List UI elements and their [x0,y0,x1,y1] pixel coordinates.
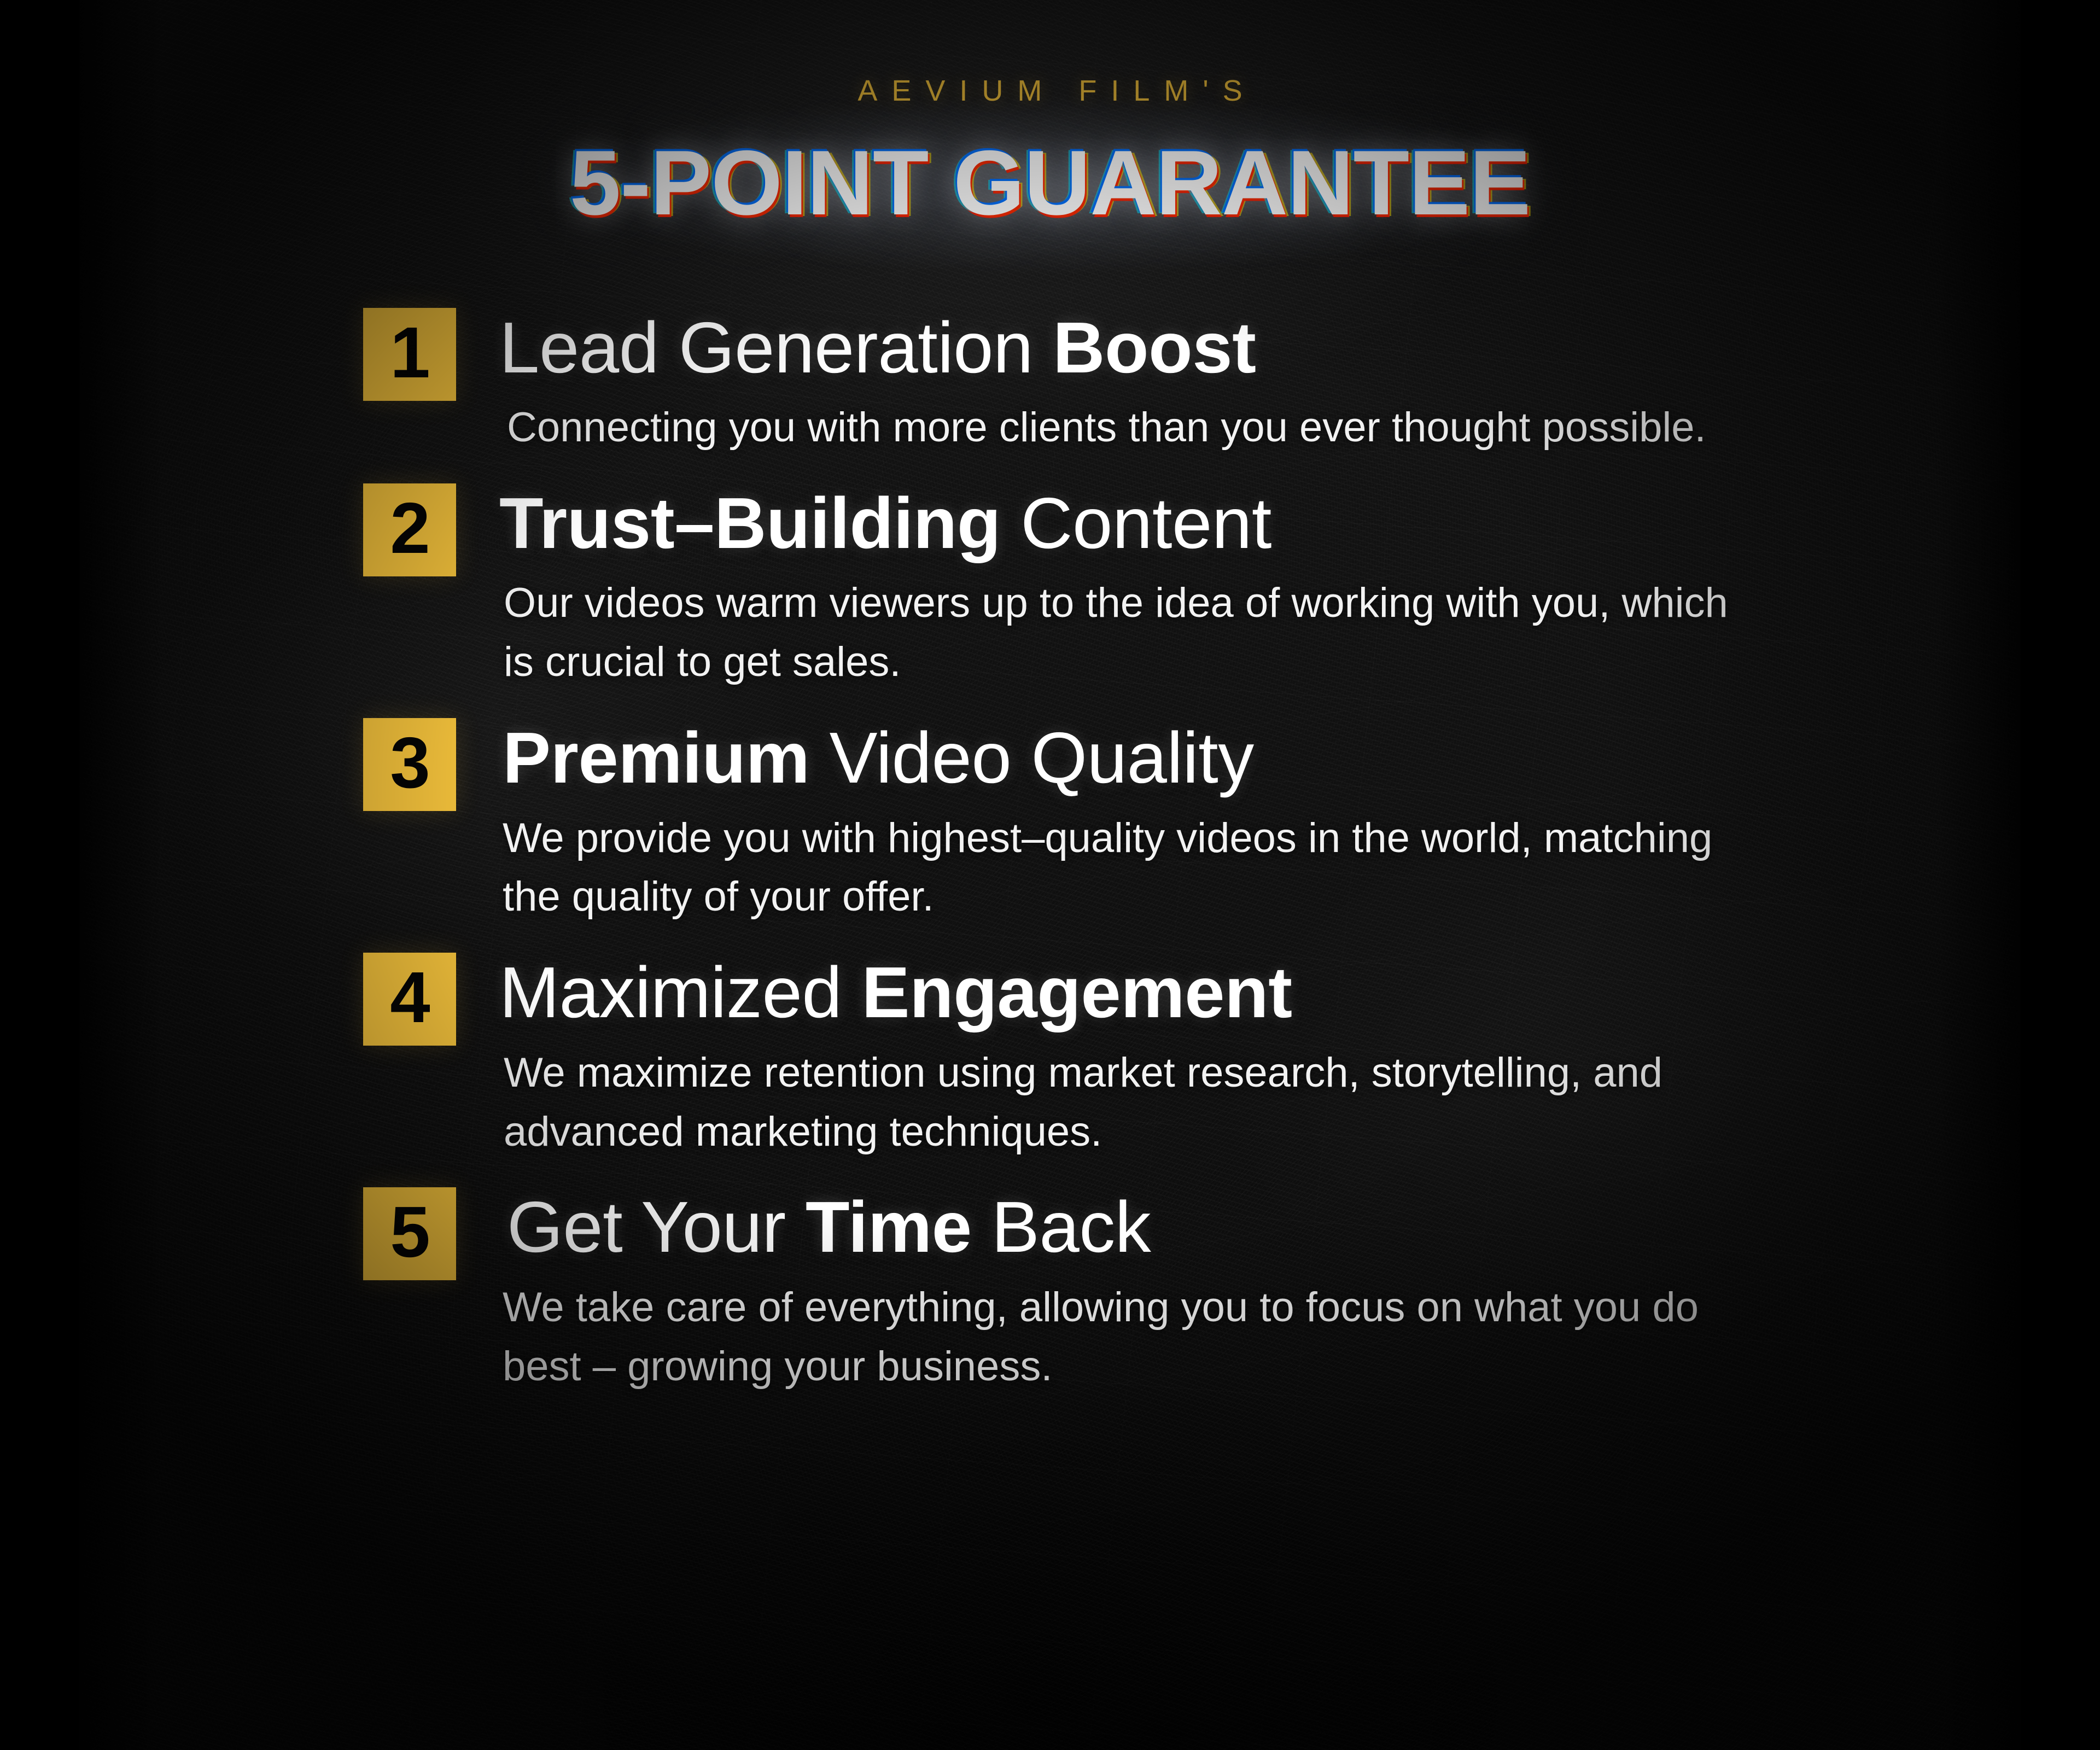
guarantee-poster: AEVIUM FILM'S 5-POINT GUARANTEE 1 Lead G… [0,0,2100,1750]
badge-number: 1 [390,317,429,389]
item-headline: Get Your Time Back [507,1189,1840,1264]
list-item-body: Maximized Engagement We maximize retenti… [499,953,1840,1161]
headline-bold: Premium [503,717,809,798]
number-badge: 3 [363,718,456,811]
item-description: Connecting you with more clients than yo… [507,398,1759,457]
number-badge: 2 [363,483,456,576]
number-badge: 4 [363,953,456,1046]
headline-regular-post: Video Quality [809,717,1253,798]
list-item: 3 Premium Video Quality We provide you w… [363,718,1840,926]
badge-number: 4 [390,961,429,1034]
headline-regular-post: Back [972,1187,1151,1267]
brand-kicker: AEVIUM FILM'S [0,74,2100,108]
title-block: 5-POINT GUARANTEE [0,137,2100,241]
headline-regular-post: Content [1001,483,1271,563]
headline-regular-pre: Lead Generation [499,307,1053,388]
list-item: 2 Trust–Building Content Our videos warm… [363,483,1840,692]
headline-bold: Time [806,1187,972,1267]
list-item: 4 Maximized Engagement We maximize reten… [363,953,1840,1161]
item-description: We take care of everything, allowing you… [503,1278,1755,1396]
item-description: We maximize retention using market resea… [504,1043,1756,1162]
badge-number: 3 [390,727,429,799]
page-title: 5-POINT GUARANTEE [570,137,1530,229]
number-badge: 1 [363,308,456,401]
poster-content: AEVIUM FILM'S 5-POINT GUARANTEE 1 Lead G… [0,0,2100,1750]
headline-bold: Trust–Building [499,483,1001,563]
item-description: Our videos warm viewers up to the idea o… [504,574,1756,692]
list-item-body: Lead Generation Boost Connecting you wit… [499,308,1840,457]
item-headline: Lead Generation Boost [499,310,1840,385]
item-headline: Trust–Building Content [499,486,1840,561]
guarantee-list: 1 Lead Generation Boost Connecting you w… [363,308,1840,1396]
badge-number: 5 [390,1196,429,1268]
item-description: We provide you with highest–quality vide… [503,809,1755,927]
badge-number: 2 [390,492,429,564]
headline-regular-pre: Get Your [507,1187,806,1267]
list-item-body: Trust–Building Content Our videos warm v… [499,483,1840,692]
number-badge: 5 [363,1187,456,1280]
headline-regular-pre: Maximized [499,952,861,1032]
list-item: 5 Get Your Time Back We take care of eve… [363,1187,1840,1396]
headline-bold: Boost [1053,307,1256,388]
list-item-body: Get Your Time Back We take care of every… [499,1187,1840,1396]
item-headline: Maximized Engagement [499,955,1840,1030]
item-headline: Premium Video Quality [503,720,1840,795]
list-item: 1 Lead Generation Boost Connecting you w… [363,308,1840,457]
headline-bold: Engagement [861,952,1292,1032]
list-item-body: Premium Video Quality We provide you wit… [499,718,1840,926]
